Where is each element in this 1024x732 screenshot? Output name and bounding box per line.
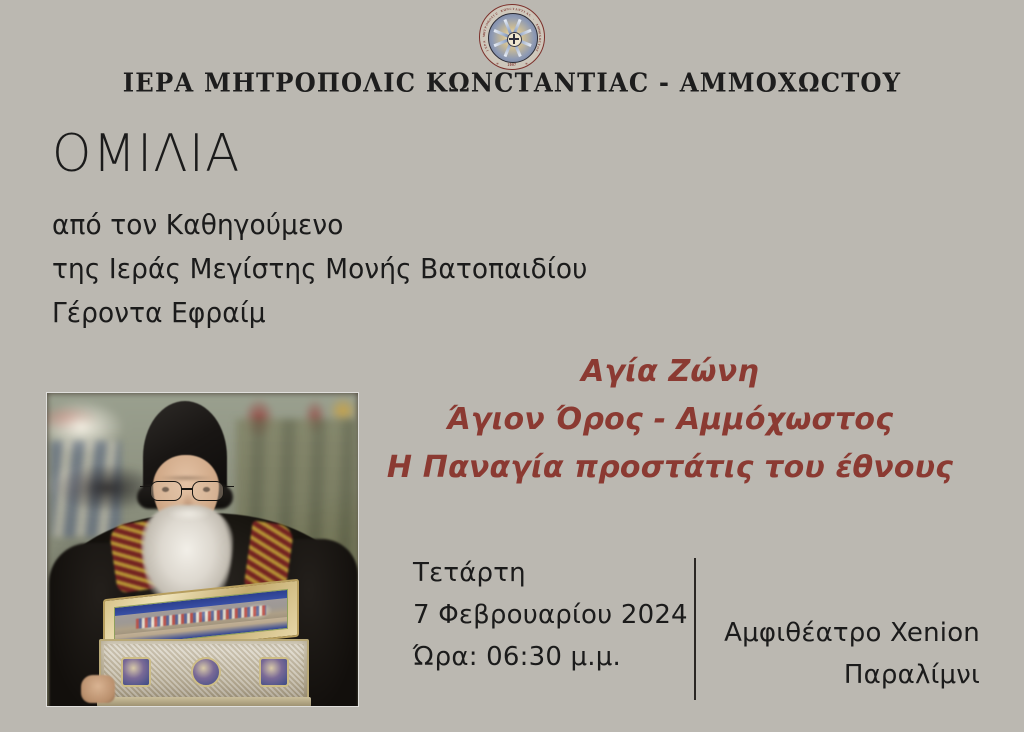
event-date: 7 Φεβρουαρίου 2024 [413,594,675,636]
glasses-lens-left [150,481,182,501]
seal-inner-disc [488,13,538,63]
glasses-temple-left [140,486,150,487]
diocese-header-text: ΙΕΡΑ ΜΗΤΡΟΠΟΛΙC ΚΩΝCΤΑΝΤΙΑC - ΑΜΜΟΧΩCΤΟΥ [15,67,1008,98]
event-day: Τετάρτη [413,552,675,594]
reliquary-base [97,697,311,706]
emblem-container: ΙΕΡΑ ΜΗΤΡΟΠΟΛΙC ΚΩΝCΤΑΝΤΙΑC - ΑΜΜΟΧΩCΤΟΥ… [0,4,1024,70]
topic-line-2: Άγιον Όρος - Αμμόχωστος [360,396,980,444]
headline-block: ΟΜΙΛΙΑ [52,128,249,180]
monk-moustache [169,507,209,521]
subtitle-line-2: της Ιεράς Μεγίστης Μονής Βατοπαιδίου [52,247,588,291]
reliquary-medallion-3 [259,657,289,687]
glasses-lens-right [192,481,224,501]
subtitle-line-3: Γέροντα Εφραίμ [52,291,588,335]
seal-star-right: ✳ [525,62,528,66]
venue-city: Παραλίμνι [712,654,980,696]
reliquary-casket [99,589,313,705]
seal-cross-icon [507,32,522,47]
subtitle-block: από τον Καθηγούμενο της Ιεράς Μεγίστης Μ… [52,203,588,335]
glasses-temple-right [224,486,234,487]
page-title: ΟΜΙΛΙΑ [52,128,241,180]
speaker-photo [47,393,358,706]
topic-line-3: Η Παναγία προστάτις του έθνους [360,444,980,492]
event-venue-block: Αμφιθέατρο Xenion Παραλίμνι [712,612,980,696]
seal-ring-char: - [532,17,536,20]
event-datetime-block: Τετάρτη 7 Φεβρουαρίου 2024 Ώρα: 06:30 μ.… [413,552,675,678]
seal-year: 2007 [479,63,545,67]
monk-hand [81,675,115,703]
topic-block: Αγία Ζώνη Άγιον Όρος - Αμμόχωστος Η Πανα… [360,348,980,492]
reliquary-medallion-1 [121,657,151,687]
monk-figure [47,393,358,706]
vertical-divider [694,558,696,700]
diocese-seal-icon: ΙΕΡΑ ΜΗΤΡΟΠΟΛΙC ΚΩΝCΤΑΝΤΙΑC - ΑΜΜΟΧΩCΤΟΥ… [479,4,545,70]
seal-ring-char: Ι [485,49,489,52]
venue-name: Αμφιθέατρο Xenion [712,612,980,654]
reliquary-medallion-2 [191,657,221,687]
event-time: Ώρα: 06:30 μ.μ. [413,636,675,678]
seal-ring-char: C [528,13,532,18]
subtitle-line-1: από τον Καθηγούμενο [52,203,588,247]
poster-canvas: ΙΕΡΑ ΜΗΤΡΟΠΟΛΙC ΚΩΝCΤΑΝΤΙΑC - ΑΜΜΟΧΩCΤΟΥ… [0,0,1024,732]
topic-line-1: Αγία Ζώνη [360,348,980,396]
